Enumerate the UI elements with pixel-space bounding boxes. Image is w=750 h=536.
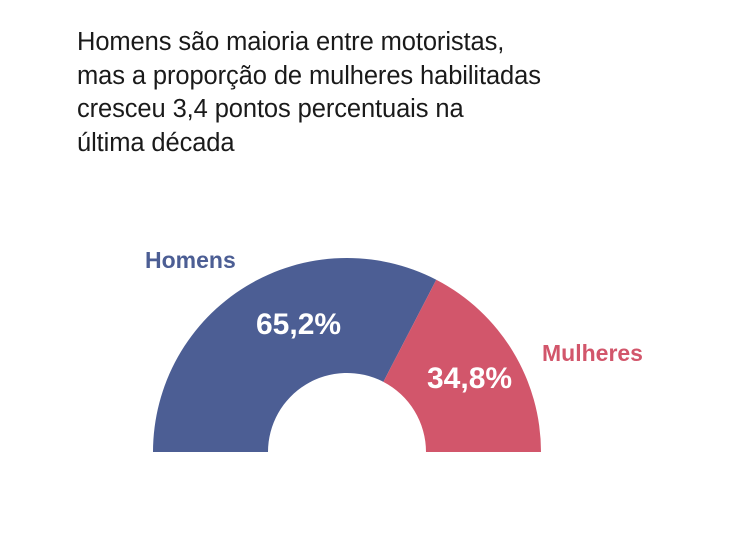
slice-homens[interactable] (153, 258, 436, 452)
gauge-chart: 65,2% 34,8% Homens Mulheres (0, 0, 750, 536)
slice-value-homens: 65,2% (256, 308, 341, 342)
category-label-mulheres: Mulheres (542, 340, 643, 367)
category-label-homens: Homens (145, 247, 236, 274)
chart-figure: Homens são maioria entre motoristas, mas… (0, 0, 750, 536)
gauge-svg (0, 0, 750, 536)
slice-value-mulheres: 34,8% (427, 362, 512, 396)
